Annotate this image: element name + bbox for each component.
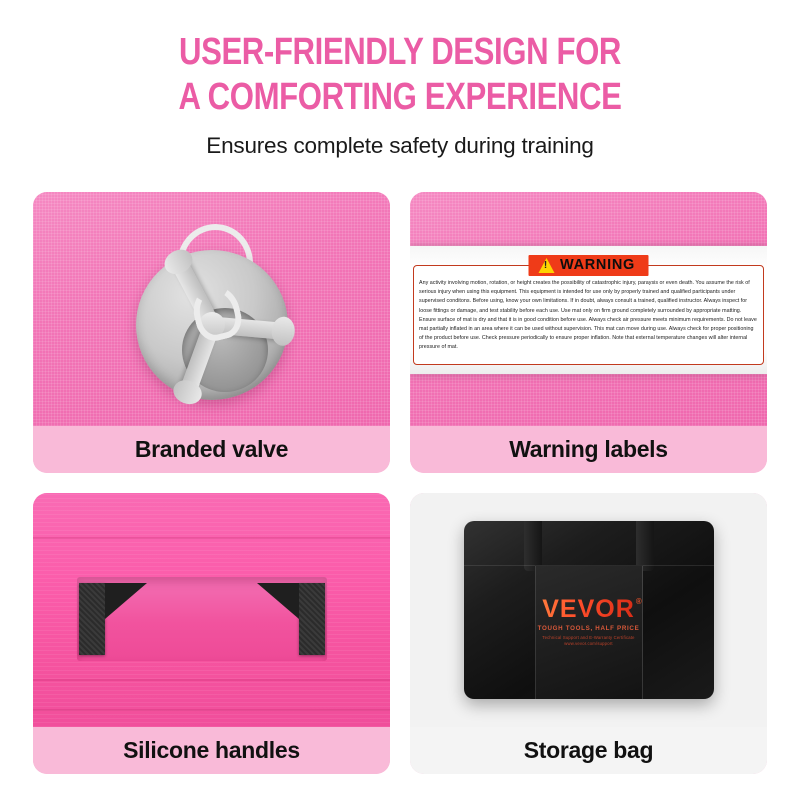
bag-handle-arc xyxy=(526,521,652,537)
warning-labels-photo: WARNING Any activity involving motion, r… xyxy=(410,192,767,426)
panel-warning-labels: WARNING Any activity involving motion, r… xyxy=(410,192,767,473)
bag-handle-left xyxy=(524,521,542,571)
panel-branded-valve: Branded valve xyxy=(33,192,390,473)
mat-seam xyxy=(33,679,390,681)
silicone-handles-photo xyxy=(33,493,390,727)
header: USER-FRIENDLY DESIGN FOR A COMFORTING EX… xyxy=(0,0,800,159)
headline-line-2: A COMFORTING EXPERIENCE xyxy=(72,75,728,120)
bag-handle-right xyxy=(636,521,654,571)
caption-warning-labels: Warning labels xyxy=(410,426,767,473)
mat-seam xyxy=(33,537,390,539)
storage-bag-photo: VEVOR ® TOUGH TOOLS, HALF PRICE Technica… xyxy=(410,493,767,727)
branded-valve-photo xyxy=(33,192,390,426)
handle-slot xyxy=(77,577,327,661)
warning-label-body-text: Any activity involving motion, rotation,… xyxy=(419,279,758,353)
vevor-brand-text: VEVOR xyxy=(542,595,635,623)
warning-badge: WARNING xyxy=(528,255,649,276)
caption-storage-bag: Storage bag xyxy=(410,727,767,774)
caption-silicone-handles: Silicone handles xyxy=(33,727,390,774)
valve-assembly xyxy=(122,224,302,404)
subheadline: Ensures complete safety during training xyxy=(0,133,800,159)
warning-label-border: WARNING Any activity involving motion, r… xyxy=(413,265,764,365)
handle-strap-right xyxy=(299,583,325,655)
vevor-tagline: TOUGH TOOLS, HALF PRICE xyxy=(464,625,714,632)
warning-triangle-icon xyxy=(538,258,554,273)
vevor-subline-2: www.vevor.com/support xyxy=(464,641,714,647)
warning-badge-label: WARNING xyxy=(560,257,635,273)
panel-silicone-handles: Silicone handles xyxy=(33,493,390,774)
feature-panel-grid: Branded valve WARNING Any activity invol… xyxy=(33,192,767,774)
panel-storage-bag: VEVOR ® TOUGH TOOLS, HALF PRICE Technica… xyxy=(410,493,767,774)
handle-strap-fold-right xyxy=(257,583,299,655)
mat-seam xyxy=(33,709,390,711)
trademark-icon: ® xyxy=(636,597,643,606)
warning-label-sticker: WARNING Any activity involving motion, r… xyxy=(410,246,767,374)
caption-branded-valve: Branded valve xyxy=(33,426,390,473)
vevor-wordmark: VEVOR ® xyxy=(542,595,635,624)
vevor-logo: VEVOR ® TOUGH TOOLS, HALF PRICE Technica… xyxy=(464,595,714,648)
storage-bag: VEVOR ® TOUGH TOOLS, HALF PRICE Technica… xyxy=(464,521,714,699)
handle-strap-left xyxy=(79,583,105,655)
headline-line-1: USER-FRIENDLY DESIGN FOR xyxy=(72,30,728,75)
handle-strap-fold-left xyxy=(105,583,147,655)
